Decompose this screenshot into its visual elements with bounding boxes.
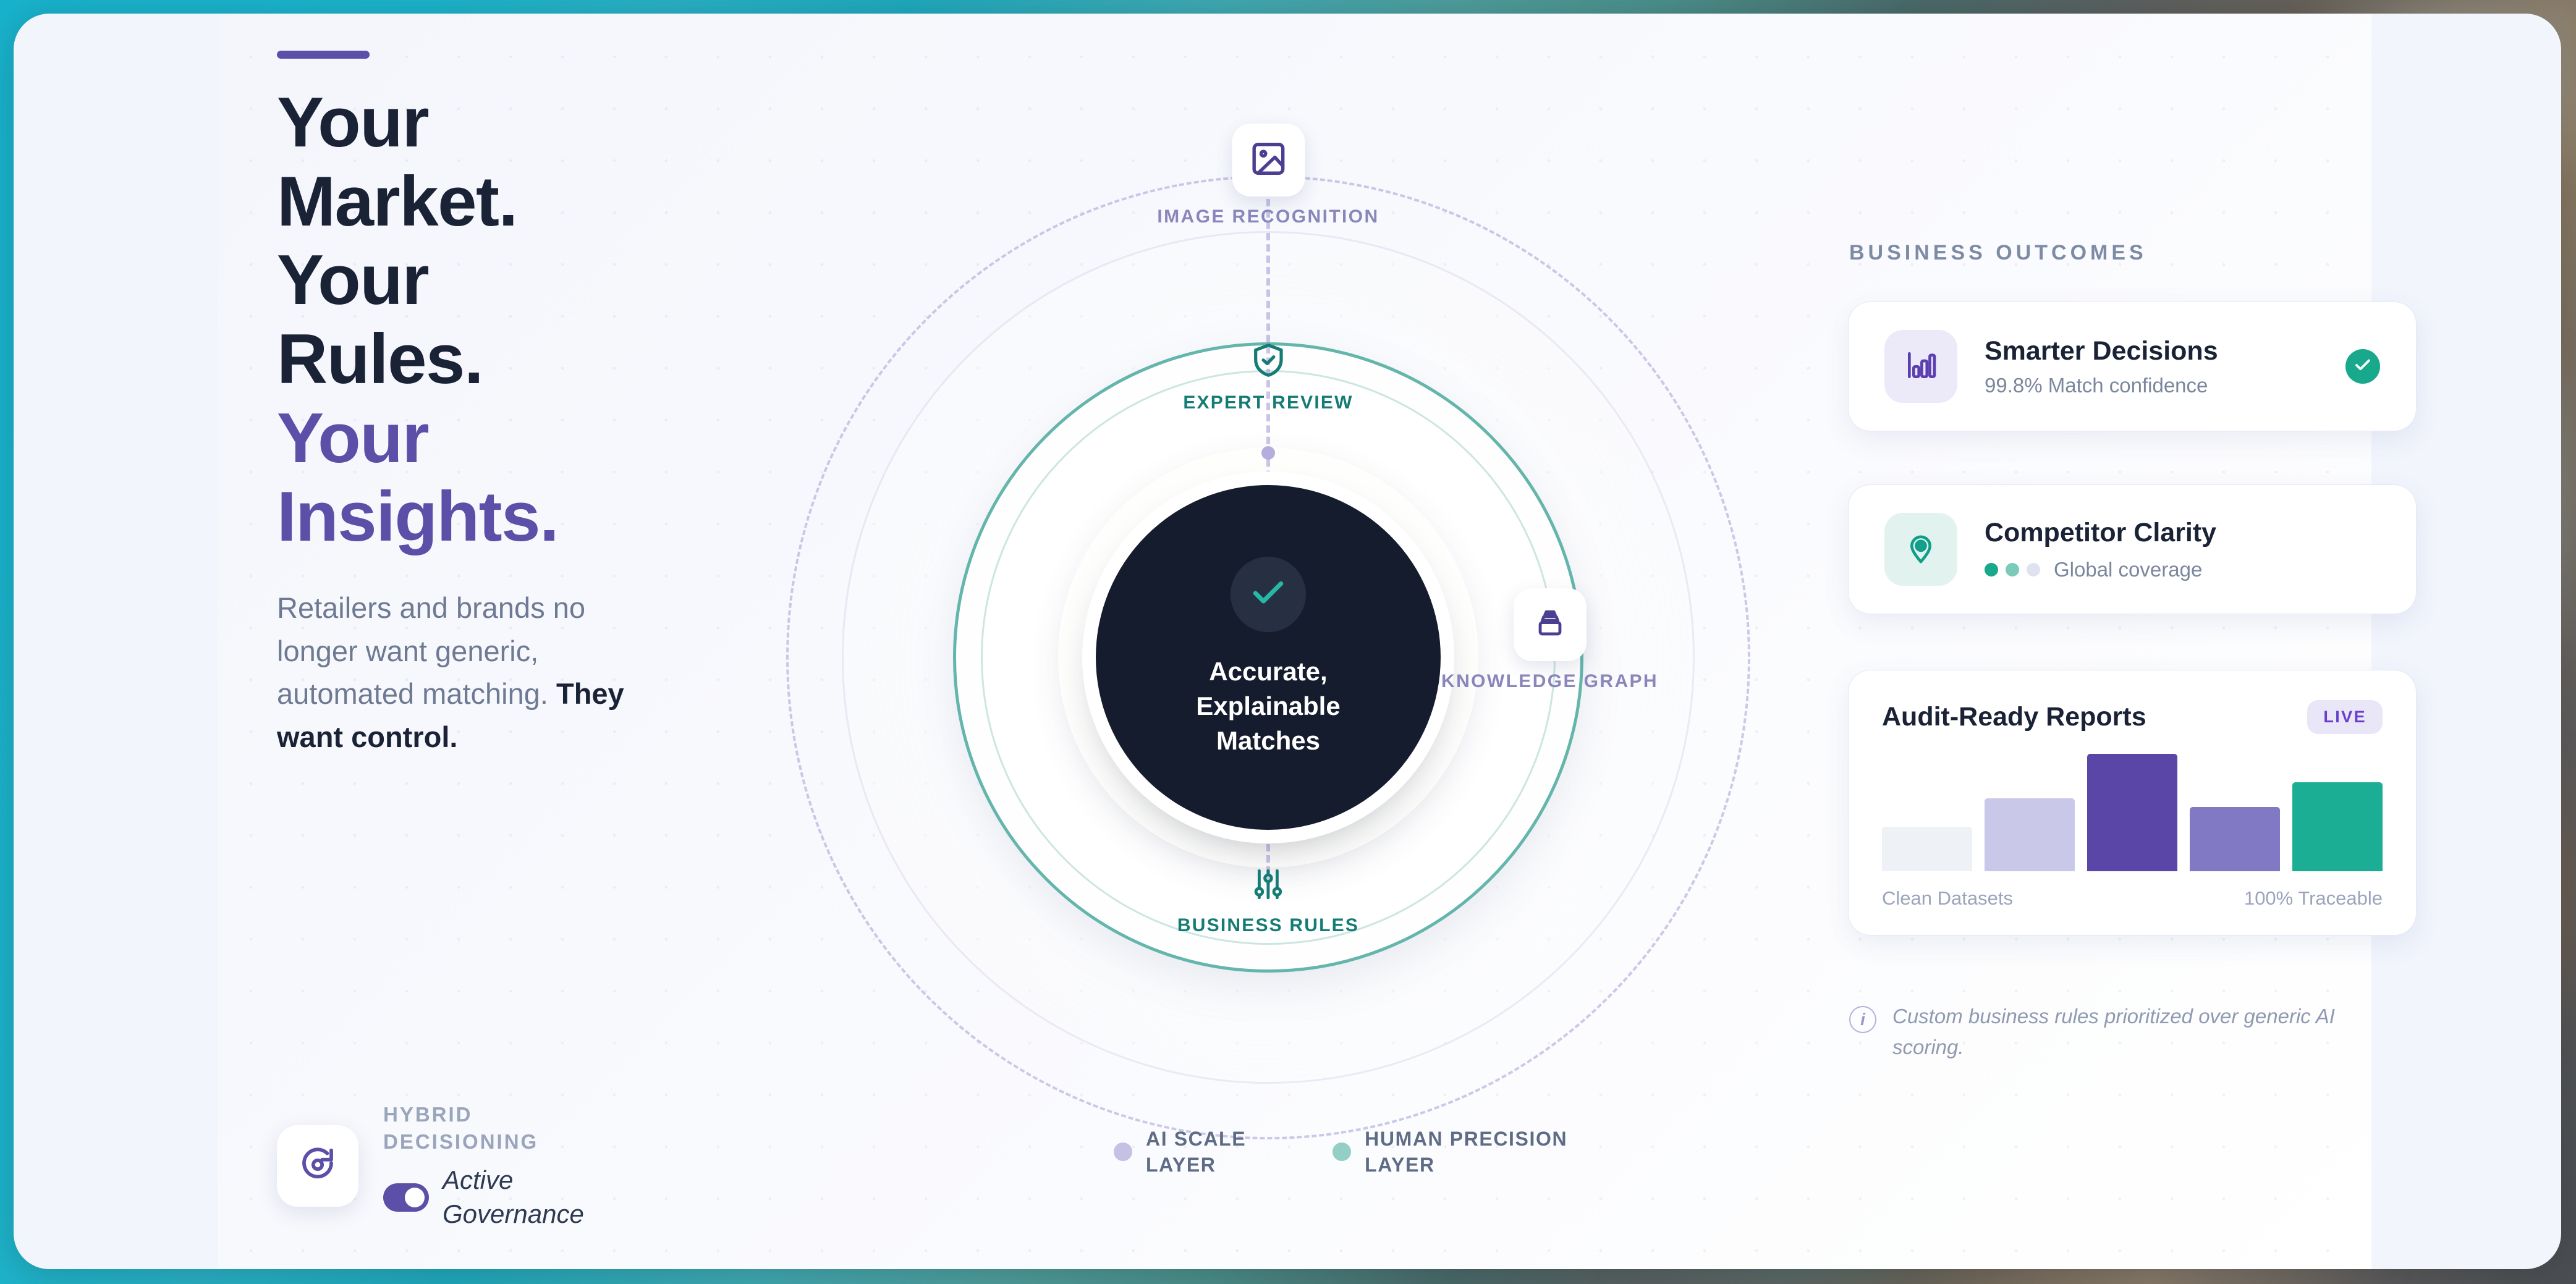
outcomes-footnote: i Custom business rules prioritized over… — [1849, 1001, 2381, 1062]
outcome-card-title: Smarter Decisions — [1985, 336, 2318, 366]
legend-label-ai-scale: AI SCALE LAYER — [1146, 1126, 1246, 1178]
core-check-badge — [1231, 557, 1306, 632]
bar-chart-icon — [1904, 348, 1938, 386]
audit-foot-left: Clean Datasets — [1882, 887, 2013, 910]
accent-bar — [277, 51, 370, 59]
outcome-card-icon-wrap — [1884, 513, 1957, 586]
hybrid-meta: HYBRID DECISIONING Active Governance — [383, 1101, 630, 1231]
outcome-card-sub: 99.8% Match confidence — [1985, 374, 2318, 397]
page-title: Your Market. Your Rules. Your Insights. — [277, 83, 710, 557]
hybrid-state-text: Active Governance — [443, 1164, 584, 1231]
node-business-rules[interactable]: BUSINESS RULES — [1177, 866, 1359, 936]
core-label: Accurate, Explainable Matches — [1196, 654, 1340, 758]
check-icon — [1249, 574, 1287, 615]
legend-ai-scale-line-1: AI SCALE — [1146, 1128, 1246, 1150]
hero-text-column: Your Market. Your Rules. Your Insights. … — [277, 51, 710, 758]
headline-line-2: Market. — [277, 163, 517, 241]
node-knowledge-graph-label: KNOWLEDGE GRAPH — [1441, 671, 1658, 692]
chart-bar — [2190, 807, 2280, 872]
chart-bar — [2087, 754, 2177, 871]
hybrid-toggle-row: Active Governance — [383, 1164, 630, 1231]
audit-bar-chart — [1849, 754, 2416, 871]
outcome-card-title: Competitor Clarity — [1985, 518, 2380, 548]
connector-dot-top — [1261, 446, 1275, 460]
node-knowledge-graph[interactable]: KNOWLEDGE GRAPH — [1441, 588, 1658, 692]
database-icon — [1532, 606, 1568, 644]
outcome-card-competitor-clarity[interactable]: Competitor Clarity Global coverage — [1848, 484, 2417, 614]
location-pin-icon — [1904, 531, 1938, 568]
node-business-rules-label: BUSINESS RULES — [1177, 915, 1359, 936]
diagram-legend: AI SCALE LAYER HUMAN PRECISION LAYER — [1114, 1126, 1567, 1178]
headline-line-1: Your — [277, 83, 428, 162]
active-governance-toggle[interactable] — [383, 1183, 429, 1212]
business-outcomes-kicker: BUSINESS OUTCOMES — [1849, 241, 2147, 265]
sliders-icon — [1250, 894, 1286, 905]
node-image-recognition-chip[interactable] — [1232, 124, 1305, 196]
legend-dot-human-precision — [1332, 1143, 1351, 1161]
outcome-card-icon-wrap — [1884, 330, 1957, 403]
footnote-text: Custom business rules prioritized over g… — [1892, 1001, 2381, 1062]
hybrid-decisioning-block: HYBRID DECISIONING Active Governance — [277, 1101, 630, 1231]
outcome-card-sub: Global coverage — [2054, 558, 2202, 581]
outcome-card-row: Smarter Decisions 99.8% Match confidence — [1849, 302, 2416, 431]
outcome-card-row: Competitor Clarity Global coverage — [1849, 485, 2416, 614]
headline-line-4: Rules. — [277, 320, 483, 399]
hero-subcopy-plain: Retailers and brands no longer want gene… — [277, 591, 585, 710]
legend-item-human-precision: HUMAN PRECISION LAYER — [1332, 1126, 1567, 1178]
info-icon: i — [1849, 1006, 1876, 1033]
audit-card-footer: Clean Datasets 100% Traceable — [1849, 871, 2416, 910]
outcome-card-body: Smarter Decisions 99.8% Match confidence — [1985, 336, 2318, 397]
core-label-line-3: Matches — [1216, 726, 1320, 755]
chart-bar — [2292, 782, 2383, 871]
hybrid-state-line-1: Active — [443, 1165, 513, 1194]
hybrid-label-line-1: HYBRID — [383, 1103, 473, 1126]
node-expert-review-label: EXPERT REVIEW — [1183, 392, 1353, 413]
live-badge: LIVE — [2307, 700, 2383, 734]
hybrid-label: HYBRID DECISIONING — [383, 1101, 630, 1155]
hybrid-icon-chip — [277, 1125, 358, 1207]
refresh-target-icon — [297, 1144, 338, 1188]
legend-ai-scale-line-2: LAYER — [1146, 1154, 1216, 1176]
hero-panel: Your Market. Your Rules. Your Insights. … — [14, 14, 2561, 1269]
content-surface: Your Market. Your Rules. Your Insights. … — [218, 14, 2371, 1269]
hybrid-architecture-diagram: Accurate, Explainable Matches — [749, 14, 1787, 1269]
check-icon — [2354, 356, 2372, 378]
core-label-line-1: Accurate, — [1209, 657, 1327, 686]
coverage-dot-1 — [1985, 563, 1998, 577]
audit-ready-reports-card[interactable]: Audit-Ready Reports LIVE Clean Datasets … — [1848, 670, 2417, 936]
coverage-dot-2 — [2006, 563, 2019, 577]
outcome-card-body: Competitor Clarity Global coverage — [1985, 518, 2380, 581]
hero-subcopy: Retailers and brands no longer want gene… — [277, 586, 635, 758]
headline-line-3: Your — [277, 241, 428, 319]
legend-label-human-precision: HUMAN PRECISION LAYER — [1365, 1126, 1567, 1178]
node-image-recognition[interactable]: IMAGE RECOGNITION — [1157, 124, 1379, 227]
status-badge — [2345, 349, 2380, 384]
headline-accent-line-2: Insights. — [277, 478, 558, 556]
hybrid-label-line-2: DECISIONING — [383, 1130, 538, 1153]
audit-foot-right: 100% Traceable — [2244, 887, 2383, 910]
hybrid-state-line-2: Governance — [443, 1199, 584, 1228]
shield-check-icon — [1249, 371, 1287, 382]
core-label-line-2: Explainable — [1196, 691, 1340, 720]
coverage-dot-3 — [2027, 563, 2040, 577]
legend-human-precision-line-2: LAYER — [1365, 1154, 1435, 1176]
outcome-card-smarter-decisions[interactable]: Smarter Decisions 99.8% Match confidence — [1848, 302, 2417, 431]
legend-item-ai-scale: AI SCALE LAYER — [1114, 1126, 1246, 1178]
node-image-recognition-label: IMAGE RECOGNITION — [1157, 206, 1379, 227]
image-icon — [1249, 140, 1287, 181]
coverage-indicator: Global coverage — [1985, 558, 2380, 581]
core-node: Accurate, Explainable Matches — [1096, 485, 1441, 830]
node-knowledge-graph-chip[interactable] — [1514, 588, 1587, 661]
headline-accent-line-1: Your — [277, 399, 428, 478]
legend-human-precision-line-1: HUMAN PRECISION — [1365, 1128, 1567, 1150]
chart-bar — [1882, 827, 1972, 871]
toggle-knob — [405, 1188, 425, 1207]
chart-bar — [1985, 798, 2075, 871]
node-expert-review[interactable]: EXPERT REVIEW — [1183, 341, 1353, 413]
audit-card-header: Audit-Ready Reports LIVE — [1849, 670, 2416, 734]
legend-dot-ai-scale — [1114, 1143, 1132, 1161]
audit-card-title: Audit-Ready Reports — [1882, 702, 2146, 732]
